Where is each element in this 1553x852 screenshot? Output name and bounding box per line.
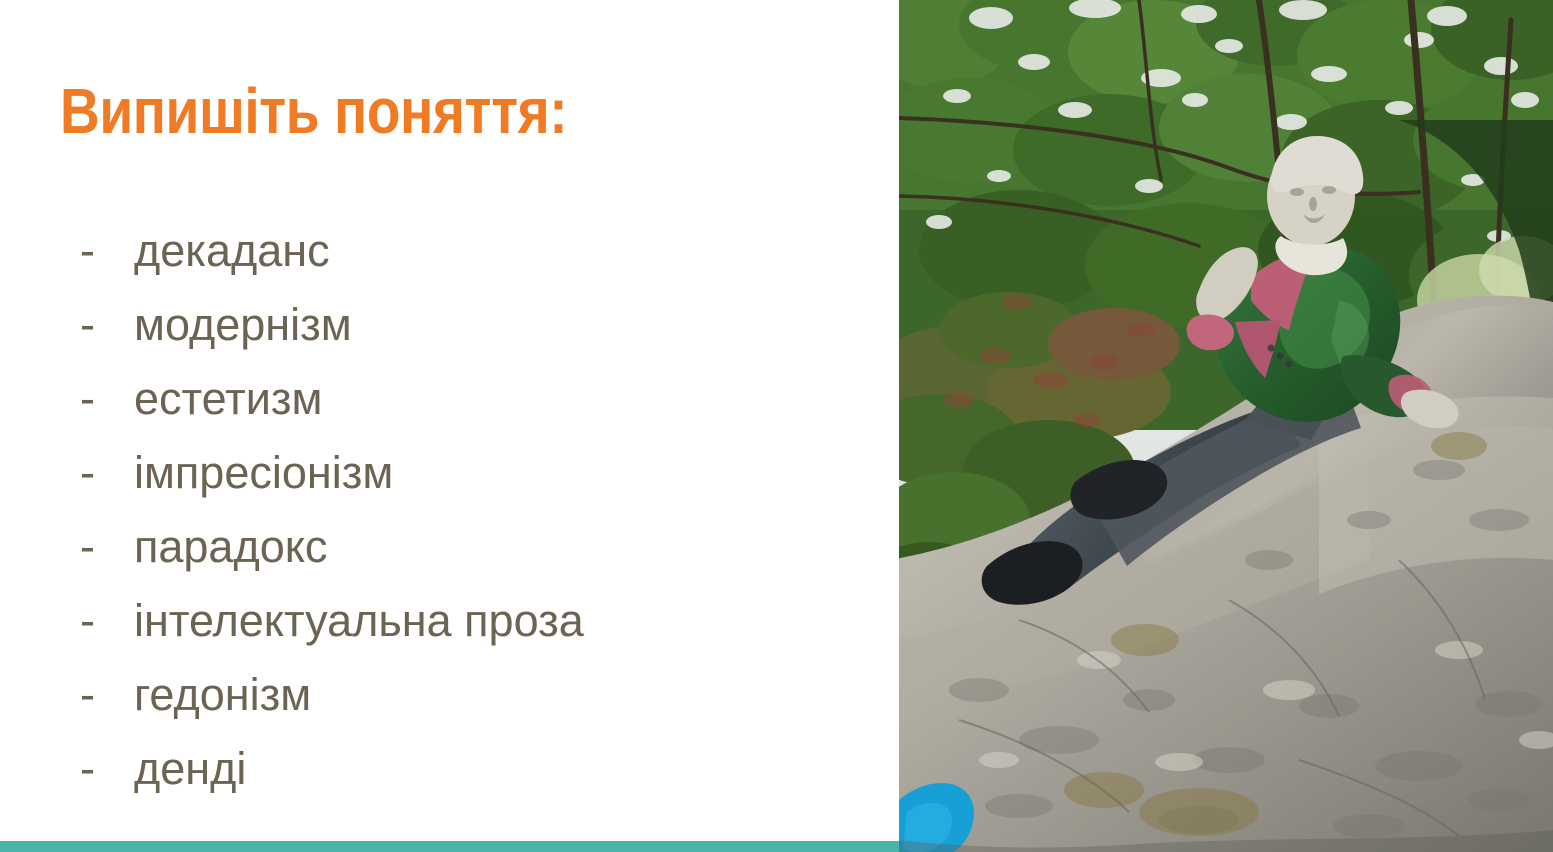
bullet-dash: - — [80, 214, 134, 288]
list-item-label: модернізм — [134, 288, 352, 362]
bullet-dash: - — [80, 658, 134, 732]
list-item: - інтелектуальна проза — [80, 584, 880, 658]
list-item: - гедонізм — [80, 658, 880, 732]
photo-illustration — [899, 0, 1553, 852]
bullet-dash: - — [80, 362, 134, 436]
page-title: Випишіть поняття: — [60, 78, 567, 145]
slide-content-pane: Випишіть поняття: - декаданс - модернізм… — [0, 0, 900, 852]
list-item-label: гедонізм — [134, 658, 311, 732]
list-item-label: денді — [134, 732, 246, 806]
list-item-label: декаданс — [134, 214, 330, 288]
oscar-wilde-memorial-statue-photo — [899, 0, 1553, 852]
list-item: - естетизм — [80, 362, 880, 436]
list-item-label: парадокс — [134, 510, 327, 584]
bullet-dash: - — [80, 510, 134, 584]
presentation-slide: Випишіть поняття: - декаданс - модернізм… — [0, 0, 1553, 852]
list-item: - парадокс — [80, 510, 880, 584]
list-item-label: імпресіонізм — [134, 436, 393, 510]
list-item-label: естетизм — [134, 362, 322, 436]
accent-bar — [0, 841, 900, 852]
list-item-label: інтелектуальна проза — [134, 584, 584, 658]
bullet-dash: - — [80, 436, 134, 510]
list-item: - імпресіонізм — [80, 436, 880, 510]
list-item: - декаданс — [80, 214, 880, 288]
concept-list: - декаданс - модернізм - естетизм - імпр… — [80, 214, 880, 806]
bullet-dash: - — [80, 732, 134, 806]
list-item: - модернізм — [80, 288, 880, 362]
bullet-dash: - — [80, 584, 134, 658]
bullet-dash: - — [80, 288, 134, 362]
list-item: - денді — [80, 732, 880, 806]
